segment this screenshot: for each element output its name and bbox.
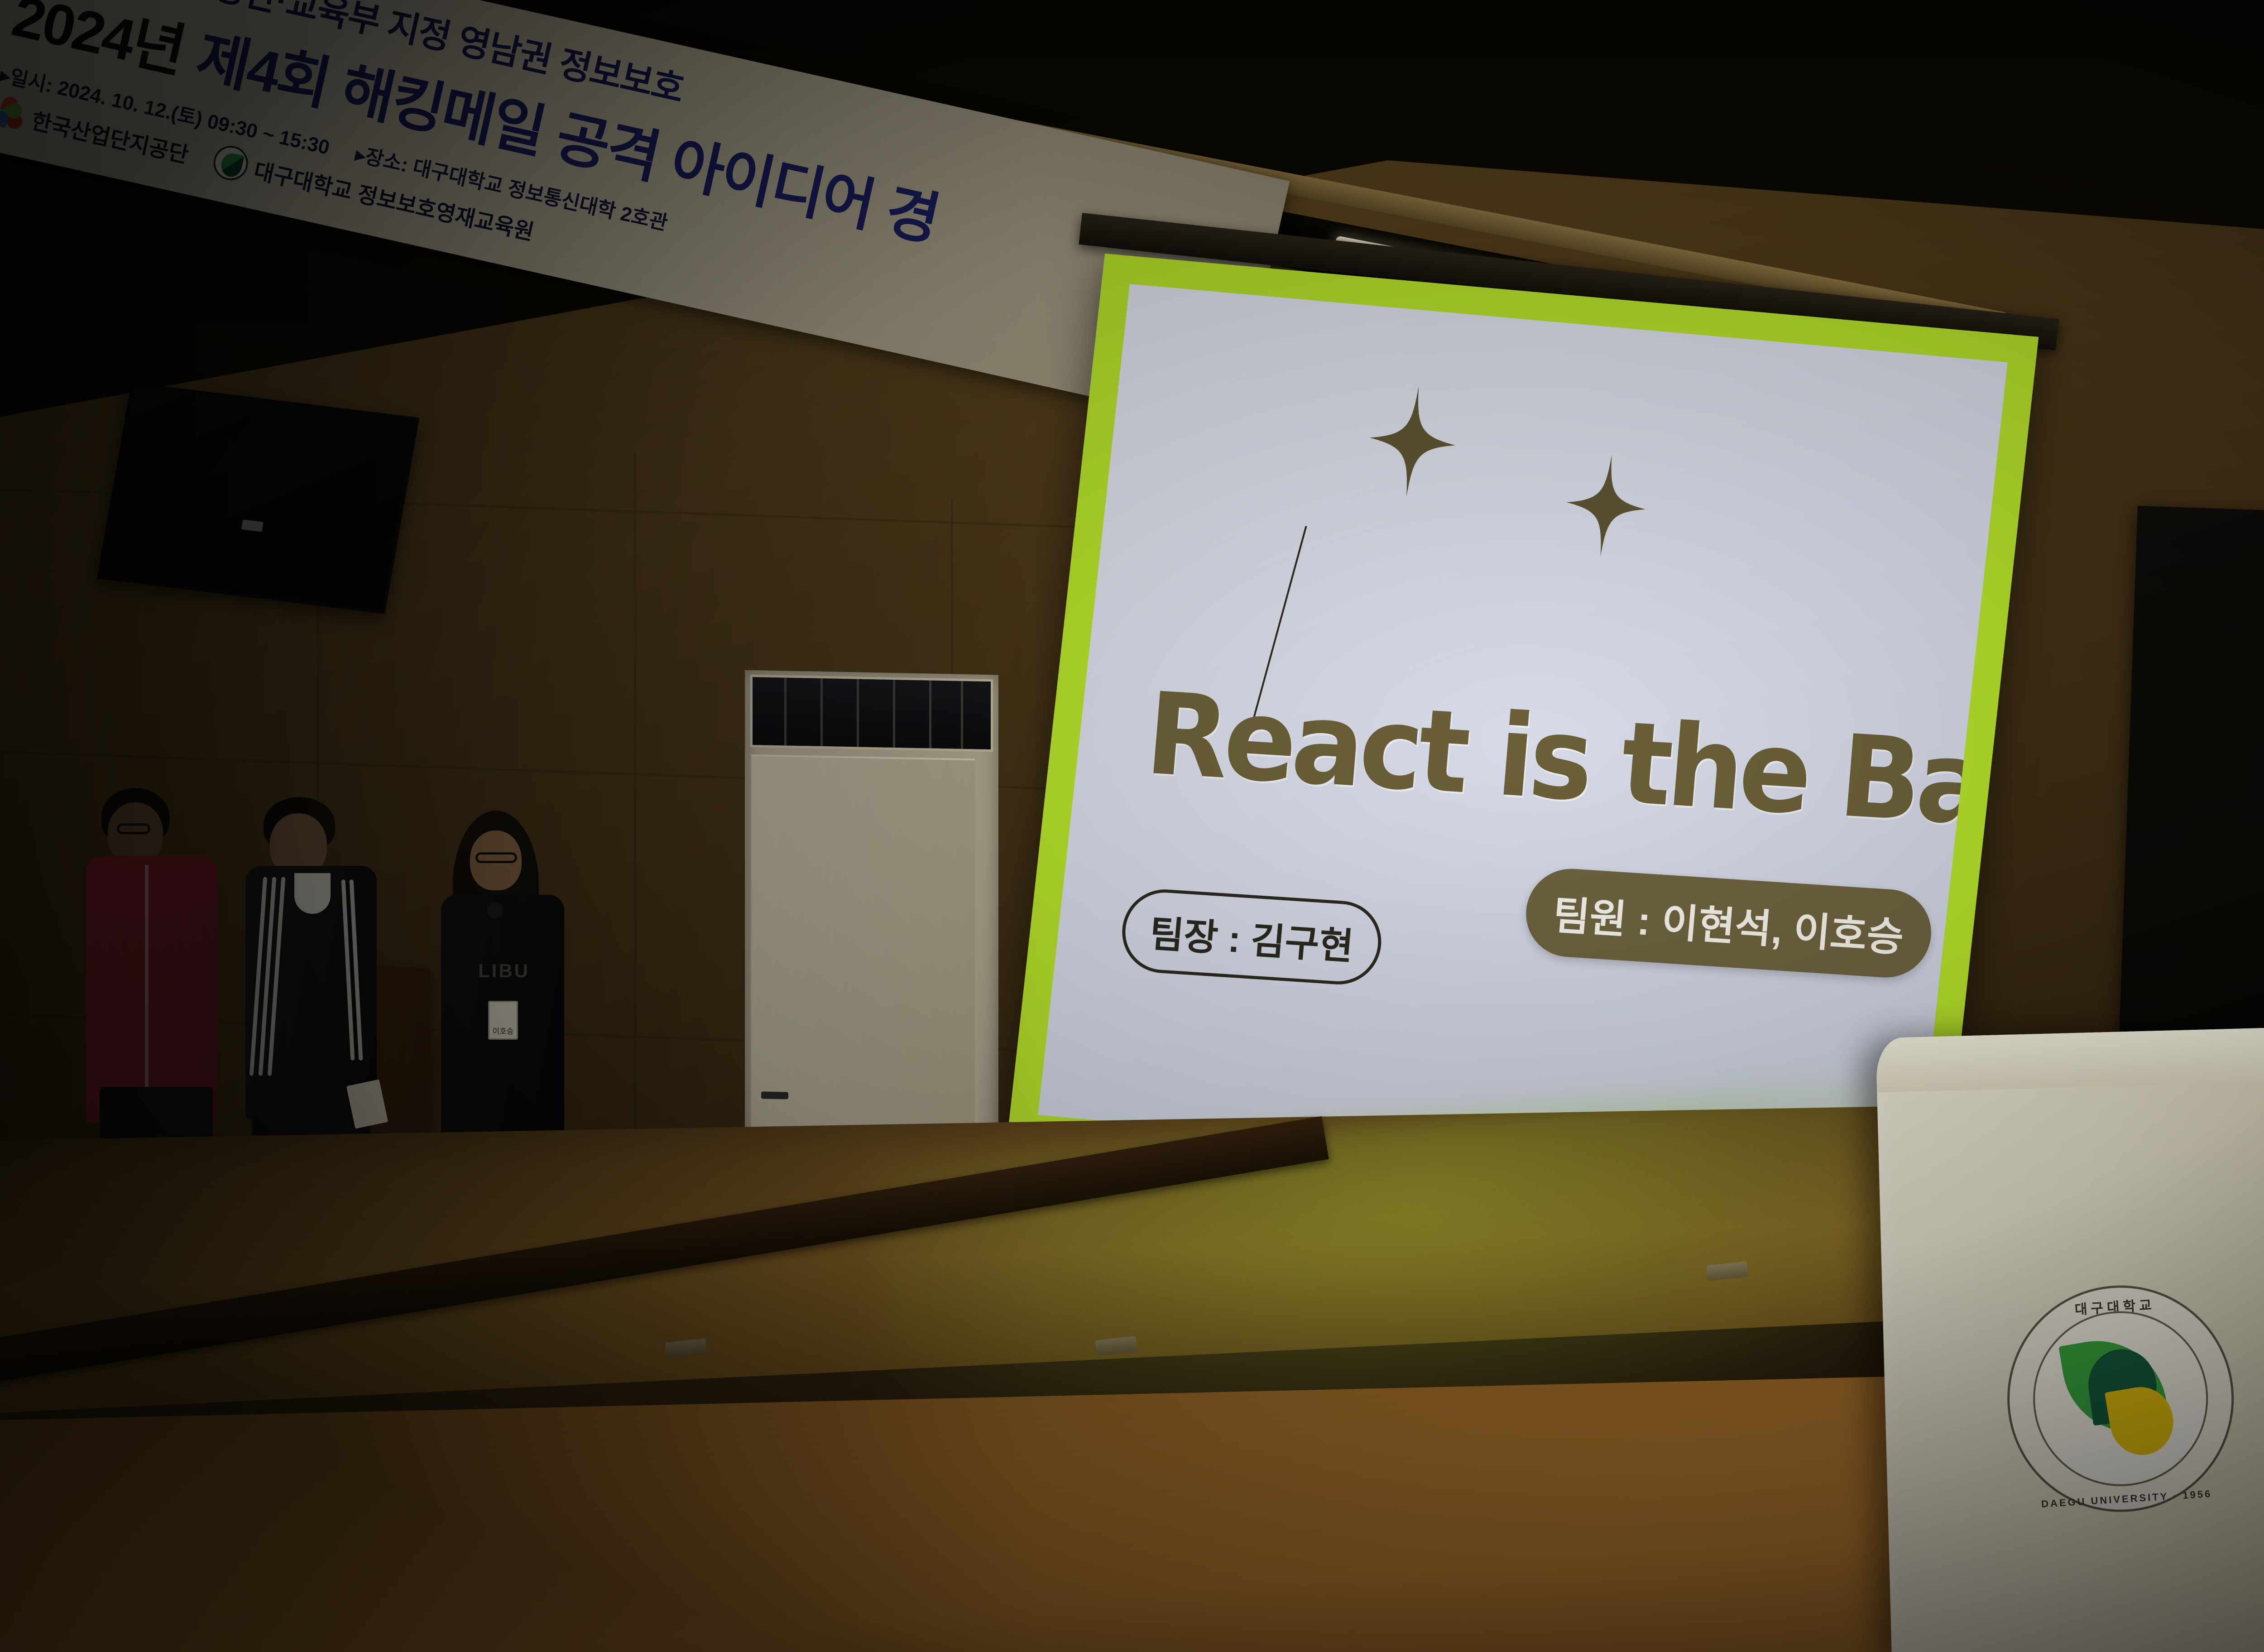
slide-title: React is the Backend <box>1142 668 2008 871</box>
seal-leaf-emblem-icon <box>2060 1334 2181 1463</box>
side-display-panel <box>2119 506 2264 1057</box>
auditorium-scene: 한국산업단지공단·교육부 지정 영남권 정보보호 2024년 제4회 해킹메일 … <box>0 0 2264 1652</box>
door-transom-window <box>750 675 993 752</box>
red-hoodie <box>86 856 217 1123</box>
seal-english-text: DAEGU UNIVERSITY · 1956 <box>2015 1486 2238 1512</box>
kicox-logo-icon <box>0 93 29 133</box>
slide-team-members-pill: 팀원 : 이현석, 이호승 <box>1522 866 1934 980</box>
glasses-icon <box>117 823 150 834</box>
podium: 대구대학교 DAEGU UNIVERSITY · 1956 <box>1875 1023 2264 1652</box>
slide-team-leader-pill: 팀장 : 김구현 <box>1119 887 1385 987</box>
sparkle-star-icon-1 <box>1364 381 1462 501</box>
door-handle-icon[interactable] <box>761 1091 788 1099</box>
slide-content-area: React is the Backend 팀장 : 김구현 팀원 : 이현석, … <box>1038 284 2007 1193</box>
sparkle-star-icon-2 <box>1561 449 1651 562</box>
glasses-icon <box>475 852 517 863</box>
university-seal: 대구대학교 DAEGU UNIVERSITY · 1956 <box>2000 1279 2240 1519</box>
daegu-university-logo-icon <box>211 143 252 184</box>
seal-inner-ring <box>2028 1306 2213 1491</box>
name-badge: 이호승 <box>488 1001 518 1040</box>
microphone-icon <box>490 913 500 956</box>
wall-monitor <box>97 382 420 614</box>
badge-name-label: 이호승 <box>493 1028 514 1036</box>
